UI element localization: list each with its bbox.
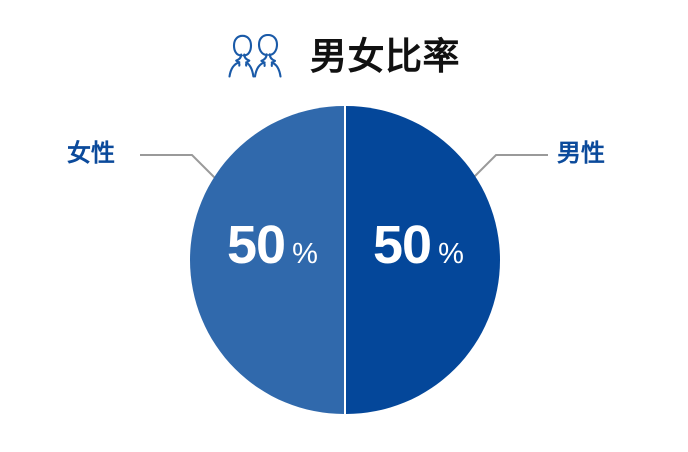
slice-value-male-number: 50 — [373, 218, 431, 272]
slice-value-female-number: 50 — [227, 218, 285, 272]
slice-value-female-percent-sign: % — [292, 240, 318, 269]
category-label-female: 女性 — [67, 142, 115, 166]
slice-value-male-percent-sign: % — [438, 240, 464, 269]
two-people-icon — [228, 34, 294, 78]
slice-value-male: 50 % — [373, 218, 464, 272]
category-label-male: 男性 — [557, 142, 605, 166]
gender-ratio-card: 男女比率 50 % 50 % 女性 男性 — [0, 0, 688, 452]
chart-header: 男女比率 — [0, 28, 688, 84]
page-title: 男女比率 — [310, 38, 460, 75]
slice-value-female: 50 % — [227, 218, 318, 272]
